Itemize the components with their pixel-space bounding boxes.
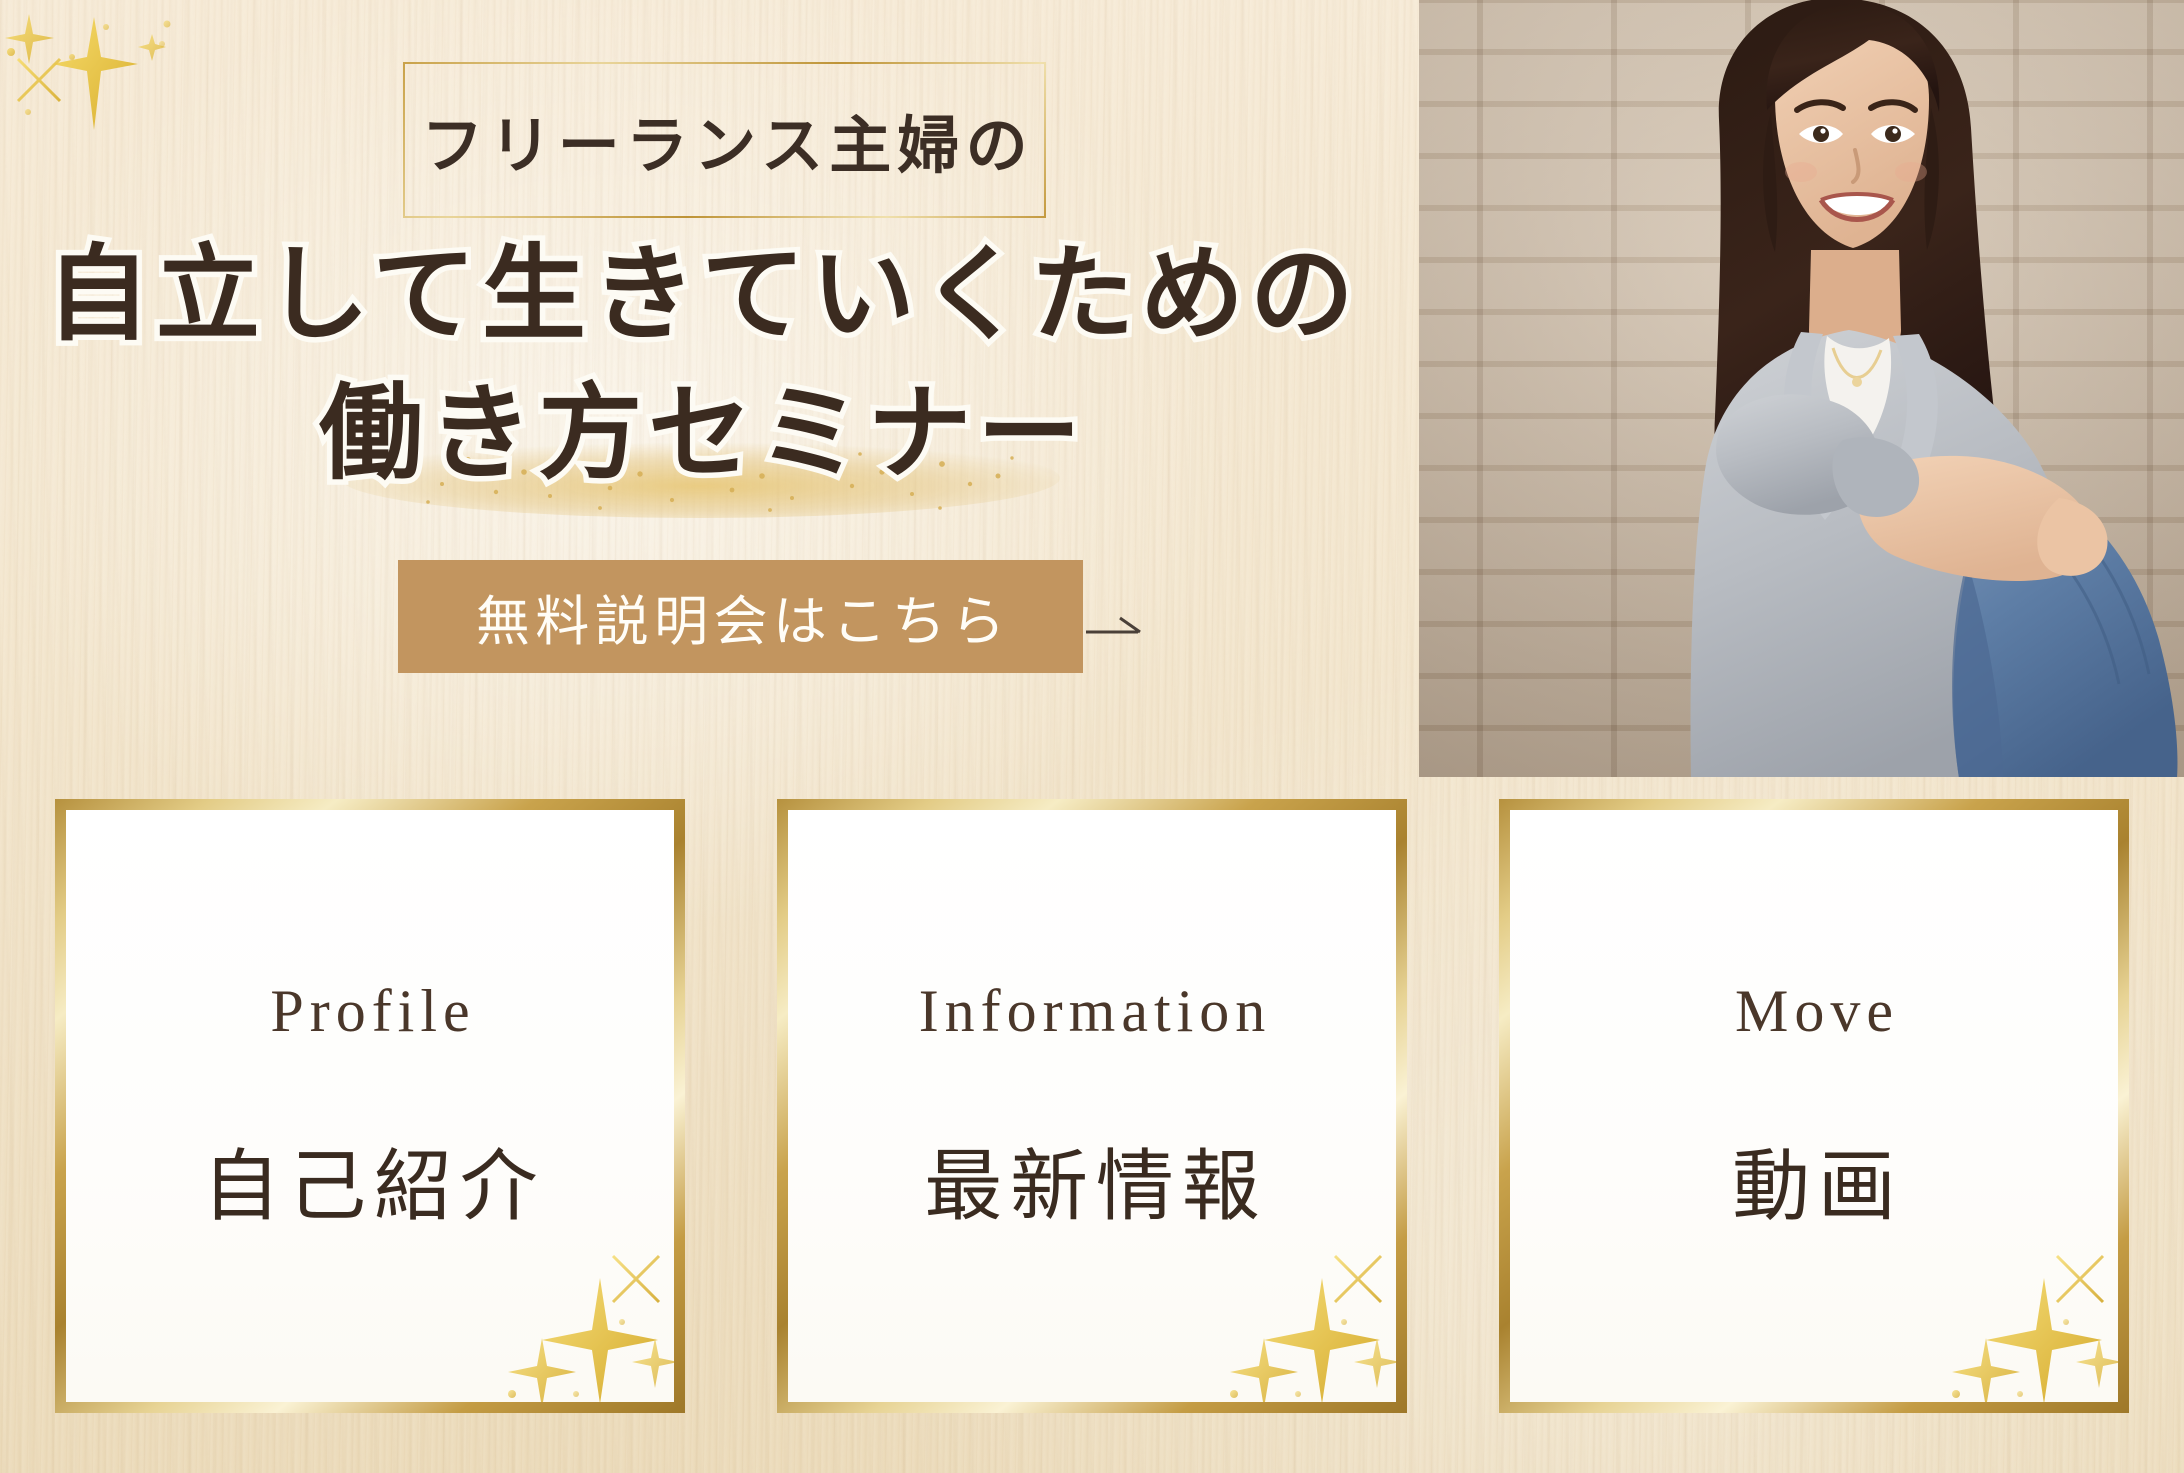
nav-card-row: Profile 自己紹介 [0, 783, 2184, 1473]
cta-wrapper: 無料説明会はこちら [398, 560, 1083, 673]
nav-card-profile[interactable]: Profile 自己紹介 [55, 799, 685, 1413]
nav-card-information-en: Information [913, 977, 1272, 1046]
sparkle-icon [450, 1218, 674, 1402]
arrow-right-icon [1086, 616, 1144, 638]
nav-card-information-jp: 最新情報 [917, 1124, 1268, 1236]
nav-card-move[interactable]: Move 動画 [1499, 799, 2129, 1413]
hero-title-line-1: 自立して生きていくための [0, 226, 1400, 365]
sparkle-icon [1894, 1218, 2118, 1402]
hero-portrait-photo [1419, 0, 2184, 777]
nav-card-information[interactable]: Information 最新情報 [777, 799, 1407, 1413]
nav-card-profile-inner: Profile 自己紹介 [66, 810, 674, 1402]
nav-card-move-en: Move [1729, 977, 1899, 1046]
nav-card-information-inner: Information 最新情報 [788, 810, 1396, 1402]
landing-page-canvas: フリーランス主婦の [0, 0, 2184, 1473]
free-briefing-cta-button[interactable]: 無料説明会はこちら [398, 560, 1083, 673]
nav-card-move-inner: Move 動画 [1510, 810, 2118, 1402]
hero-eyebrow: フリーランス主婦の [403, 62, 1046, 218]
nav-card-move-jp: 動画 [1724, 1124, 1903, 1236]
nav-card-profile-jp: 自己紹介 [195, 1124, 546, 1236]
hero-title: 自立して生きていくための 働き方セミナー [0, 226, 1400, 505]
hero-title-line-2: 働き方セミナー [0, 365, 1400, 504]
nav-card-profile-en: Profile [264, 977, 475, 1046]
hero-section: フリーランス主婦の [0, 0, 1400, 790]
woman-figure-illustration [1419, 0, 2184, 777]
sparkle-icon [1172, 1218, 1396, 1402]
